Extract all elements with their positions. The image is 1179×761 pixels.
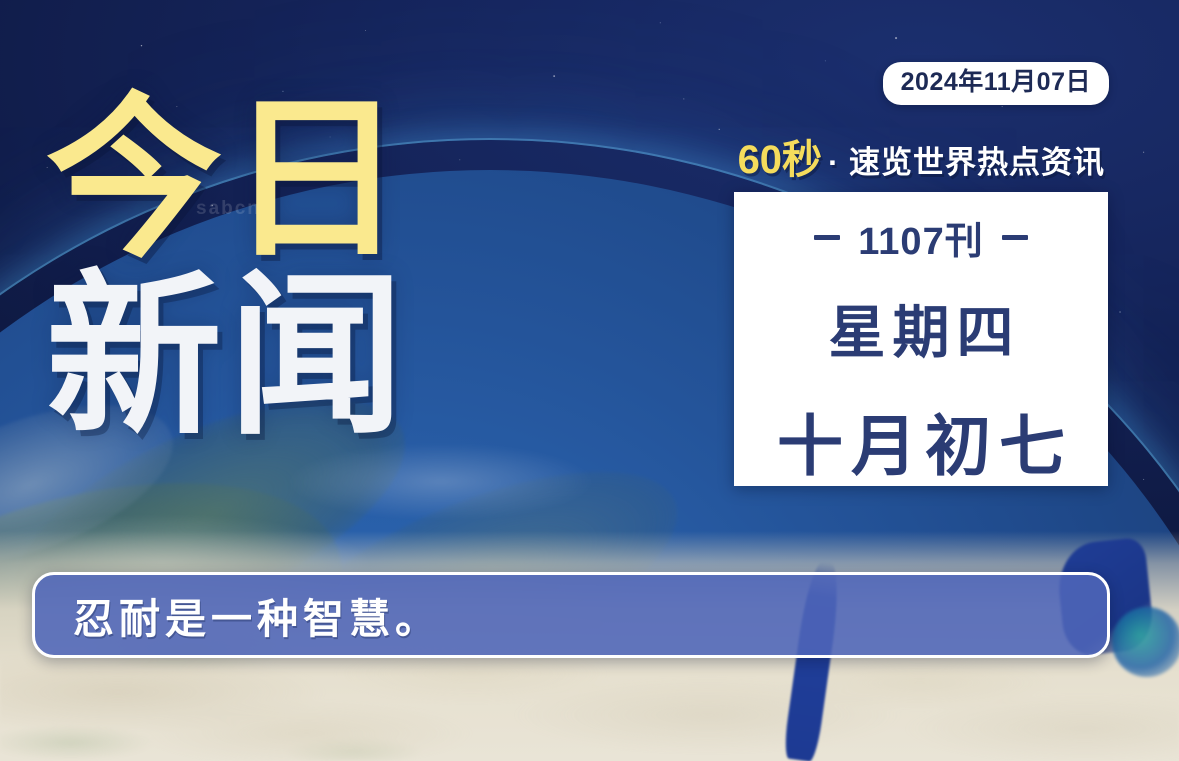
news-poster: sabcn 今日 新闻 2024年11月07日 60秒· 速览世界热点资讯 11… (0, 0, 1179, 761)
quote-bar: 忍耐是一种智慧。 (32, 572, 1110, 658)
quote-text: 忍耐是一种智慧。 (73, 585, 441, 645)
lunar-date-label: 十月初七 (769, 393, 1073, 489)
headline-line-today: 今日 (46, 96, 410, 265)
tagline: 60秒· 速览世界热点资讯 (738, 140, 1105, 180)
date-badge: 2024年11月07日 (883, 62, 1109, 105)
headline-line-news: 新闻 (46, 273, 410, 442)
tagline-description: · 速览世界热点资讯 (828, 145, 1105, 180)
issue-number-row: 1107刊 (814, 210, 1027, 265)
tagline-duration: 60秒 (738, 138, 823, 182)
issue-number-label: 1107刊 (858, 210, 983, 265)
dash-left-icon (814, 235, 840, 240)
poster-headline: 今日 新闻 (46, 96, 410, 442)
issue-info-card: 1107刊 星期四 十月初七 (734, 192, 1108, 486)
gulf-shallow-shape (1112, 607, 1179, 677)
weekday-label: 星期四 (822, 287, 1021, 369)
dash-right-icon (1002, 235, 1028, 240)
